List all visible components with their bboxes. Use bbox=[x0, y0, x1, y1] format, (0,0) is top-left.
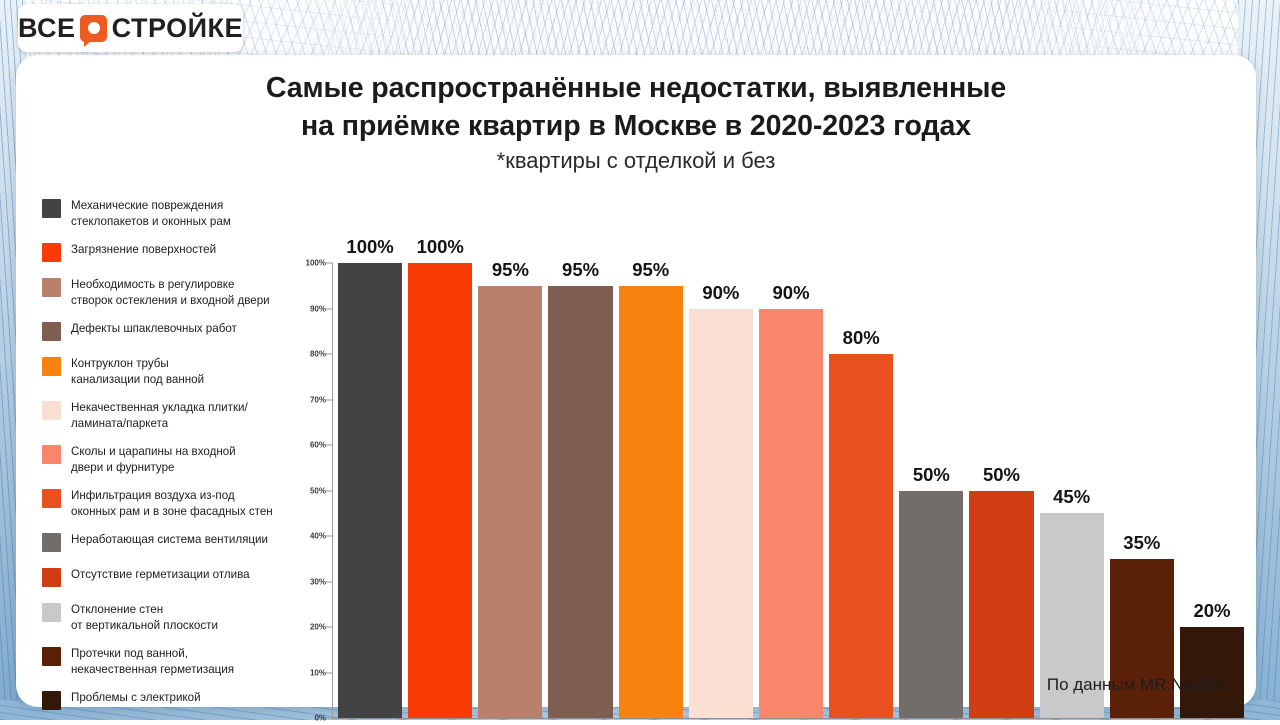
bar-rect[interactable] bbox=[969, 491, 1033, 719]
logo-word-left: ВСЕ bbox=[18, 13, 75, 44]
legend-item-label: Необходимость в регулировке створок осте… bbox=[71, 277, 270, 309]
y-axis-tick-label: 80% bbox=[310, 350, 326, 359]
legend-item[interactable]: Отклонение стен от вертикальной плоскост… bbox=[42, 602, 294, 634]
bar-value-label: 35% bbox=[1110, 532, 1174, 554]
bar-series: 100%100%95%95%95%90%90%80%50%50%45%35%20… bbox=[338, 207, 1244, 718]
bar-column[interactable]: 95% bbox=[619, 207, 683, 718]
bar-rect[interactable] bbox=[899, 491, 963, 719]
page-title-line1: Самые распространённые недостатки, выявл… bbox=[16, 69, 1256, 107]
bar-value-label: 45% bbox=[1040, 486, 1104, 508]
legend-item-label: Протечки под ванной, некачественная герм… bbox=[71, 646, 234, 678]
page-subtitle: *квартиры с отделкой и без bbox=[16, 148, 1256, 174]
bar-column[interactable]: 95% bbox=[478, 207, 542, 718]
y-axis-tick-label: 60% bbox=[310, 441, 326, 450]
bar-value-label: 90% bbox=[759, 282, 823, 304]
bar-column[interactable]: 45% bbox=[1040, 207, 1104, 718]
legend-item[interactable]: Загрязнение поверхностей bbox=[42, 242, 294, 265]
y-axis-tick-label: 40% bbox=[310, 532, 326, 541]
y-axis-tick-mark bbox=[326, 718, 333, 719]
y-axis-tick-label: 10% bbox=[310, 668, 326, 677]
legend-color-swatch bbox=[42, 243, 61, 262]
y-axis-tick-mark bbox=[326, 399, 333, 400]
y-axis-tick-label: 0% bbox=[314, 714, 326, 723]
legend-item-label: Некачественная укладка плитки/ ламината/… bbox=[71, 400, 248, 432]
bar-column[interactable]: 35% bbox=[1110, 207, 1174, 718]
bar-value-label: 50% bbox=[969, 464, 1033, 486]
legend-item-label: Инфильтрация воздуха из-под оконных рам … bbox=[71, 488, 273, 520]
legend-color-swatch bbox=[42, 278, 61, 297]
legend-item-label: Контруклон трубы канализации под ванной bbox=[71, 356, 204, 388]
bar-value-label: 80% bbox=[829, 327, 893, 349]
bar-value-label: 20% bbox=[1180, 600, 1244, 622]
y-axis-tick-mark bbox=[326, 627, 333, 628]
legend-item[interactable]: Неработающая система вентиляции bbox=[42, 532, 294, 555]
legend-color-swatch bbox=[42, 322, 61, 341]
chart-legend: Механические повреждения стеклопакетов и… bbox=[42, 198, 294, 725]
legend-item-label: Дефекты шпаклевочных работ bbox=[71, 321, 237, 337]
y-axis-tick-label: 90% bbox=[310, 304, 326, 313]
bar-rect[interactable] bbox=[619, 286, 683, 718]
bar-column[interactable]: 90% bbox=[689, 207, 753, 718]
page-title: Самые распространённые недостатки, выявл… bbox=[16, 69, 1256, 145]
legend-item[interactable]: Инфильтрация воздуха из-под оконных рам … bbox=[42, 488, 294, 520]
bar-chart-plot: 0%10%20%30%40%50%60%70%80%90%100% 100%10… bbox=[292, 207, 1247, 682]
legend-item[interactable]: Дефекты шпаклевочных работ bbox=[42, 321, 294, 344]
y-axis-tick-mark bbox=[326, 536, 333, 537]
legend-item-label: Сколы и царапины на входной двери и фурн… bbox=[71, 444, 236, 476]
bar-rect[interactable] bbox=[338, 263, 402, 718]
bar-value-label: 100% bbox=[338, 236, 402, 258]
bar-rect[interactable] bbox=[759, 309, 823, 719]
legend-item-label: Загрязнение поверхностей bbox=[71, 242, 216, 258]
y-axis-tick-mark bbox=[326, 354, 333, 355]
bar-rect[interactable] bbox=[689, 309, 753, 719]
bar-value-label: 90% bbox=[689, 282, 753, 304]
bar-rect[interactable] bbox=[1180, 627, 1244, 718]
legend-color-swatch bbox=[42, 603, 61, 622]
brand-logo[interactable]: ВСЕ СТРОЙКЕ bbox=[18, 4, 243, 52]
y-axis-labels: 0%10%20%30%40%50%60%70%80%90%100% bbox=[292, 263, 326, 718]
y-axis-tick-label: 20% bbox=[310, 623, 326, 632]
bar-rect[interactable] bbox=[548, 286, 612, 718]
bar-rect[interactable] bbox=[829, 354, 893, 718]
legend-color-swatch bbox=[42, 691, 61, 710]
legend-color-swatch bbox=[42, 445, 61, 464]
page-title-line2: на приёмке квартир в Москве в 2020-2023 … bbox=[16, 107, 1256, 145]
legend-item[interactable]: Необходимость в регулировке створок осте… bbox=[42, 277, 294, 309]
legend-item[interactable]: Механические повреждения стеклопакетов и… bbox=[42, 198, 294, 230]
x-axis-baseline bbox=[332, 718, 1247, 719]
y-axis-tick-mark bbox=[326, 263, 333, 264]
bar-rect[interactable] bbox=[408, 263, 472, 718]
y-axis-tick-label: 70% bbox=[310, 395, 326, 404]
legend-color-swatch bbox=[42, 568, 61, 587]
bar-rect[interactable] bbox=[478, 286, 542, 718]
legend-item[interactable]: Отсутствие герметизации отлива bbox=[42, 567, 294, 590]
y-axis-tick-label: 30% bbox=[310, 577, 326, 586]
y-axis-tick-label: 100% bbox=[306, 259, 326, 268]
y-axis-tick-mark bbox=[326, 581, 333, 582]
y-axis-tick-label: 50% bbox=[310, 486, 326, 495]
legend-color-swatch bbox=[42, 199, 61, 218]
bar-column[interactable]: 50% bbox=[899, 207, 963, 718]
legend-color-swatch bbox=[42, 489, 61, 508]
legend-item-label: Отклонение стен от вертикальной плоскост… bbox=[71, 602, 218, 634]
legend-item[interactable]: Проблемы с электрикой bbox=[42, 690, 294, 713]
legend-item-label: Неработающая система вентиляции bbox=[71, 532, 268, 548]
legend-item[interactable]: Некачественная укладка плитки/ ламината/… bbox=[42, 400, 294, 432]
bar-column[interactable]: 80% bbox=[829, 207, 893, 718]
legend-color-swatch bbox=[42, 533, 61, 552]
legend-item[interactable]: Сколы и царапины на входной двери и фурн… bbox=[42, 444, 294, 476]
legend-item[interactable]: Контруклон трубы канализации под ванной bbox=[42, 356, 294, 388]
legend-item[interactable]: Протечки под ванной, некачественная герм… bbox=[42, 646, 294, 678]
bar-column[interactable]: 50% bbox=[969, 207, 1033, 718]
logo-word-right: СТРОЙКЕ bbox=[112, 13, 243, 44]
bar-value-label: 95% bbox=[619, 259, 683, 281]
y-axis-tick-mark bbox=[326, 445, 333, 446]
bar-value-label: 95% bbox=[548, 259, 612, 281]
y-axis-tick-mark bbox=[326, 672, 333, 673]
legend-color-swatch bbox=[42, 357, 61, 376]
legend-item-label: Механические повреждения стеклопакетов и… bbox=[71, 198, 231, 230]
legend-item-label: Отсутствие герметизации отлива bbox=[71, 567, 250, 583]
legend-item-label: Проблемы с электрикой bbox=[71, 690, 201, 706]
bar-value-label: 95% bbox=[478, 259, 542, 281]
bar-column[interactable]: 90% bbox=[759, 207, 823, 718]
source-attribution: По данным MR.Nadzor bbox=[1047, 675, 1226, 695]
bar-value-label: 100% bbox=[408, 236, 472, 258]
bar-column[interactable]: 20% bbox=[1180, 207, 1244, 718]
legend-color-swatch bbox=[42, 401, 61, 420]
y-axis-tick-mark bbox=[326, 308, 333, 309]
bar-column[interactable]: 100% bbox=[408, 207, 472, 718]
bar-value-label: 50% bbox=[899, 464, 963, 486]
chart-card: Самые распространённые недостатки, выявл… bbox=[16, 55, 1256, 707]
bar-column[interactable]: 95% bbox=[548, 207, 612, 718]
speech-bubble-dot-icon bbox=[80, 15, 106, 42]
legend-color-swatch bbox=[42, 647, 61, 666]
bar-column[interactable]: 100% bbox=[338, 207, 402, 718]
y-axis-tick-mark bbox=[326, 490, 333, 491]
